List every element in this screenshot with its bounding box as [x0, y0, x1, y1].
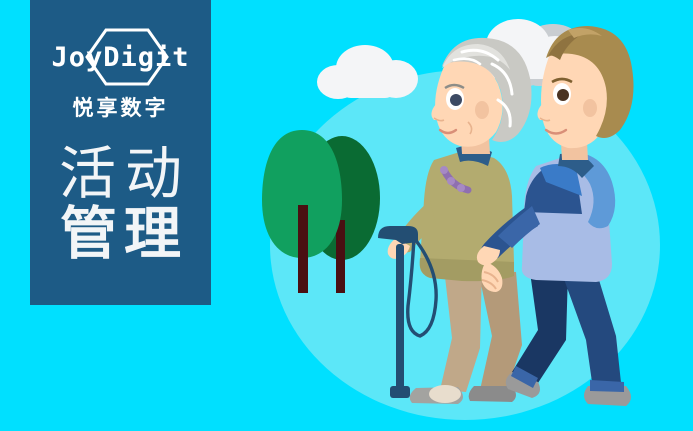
logo-wordmark: JoyDigit: [45, 26, 197, 88]
cloud-left: [317, 45, 418, 99]
company-name-cn: 悦享数字: [73, 92, 169, 122]
poster-canvas: JoyDigit 悦享数字 活动 管理: [0, 0, 693, 431]
logo: JoyDigit: [45, 26, 197, 88]
title-line-1: 活动: [50, 144, 191, 204]
title-line-2: 管理: [53, 204, 188, 264]
brand-panel: JoyDigit 悦享数字 活动 管理: [30, 0, 211, 305]
illustration: [230, 0, 693, 431]
page-title: 活动 管理: [50, 144, 191, 265]
